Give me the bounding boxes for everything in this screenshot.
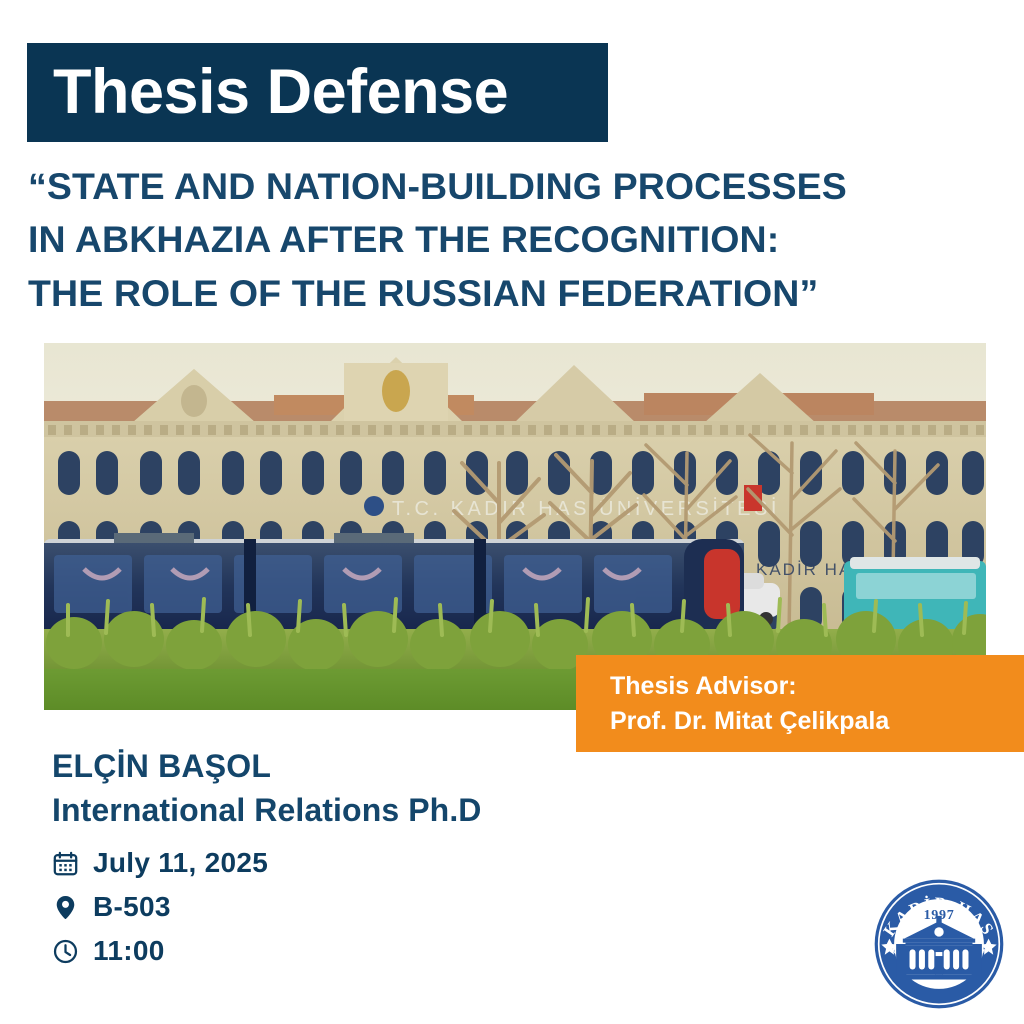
- detail-row-date: July 11, 2025: [52, 845, 268, 881]
- header-band: Thesis Defense: [27, 43, 608, 142]
- event-date: July 11, 2025: [93, 849, 268, 877]
- thesis-title-line-2: IN ABKHAZIA AFTER THE RECOGNITION:: [28, 213, 988, 266]
- location-pin-icon: [52, 894, 79, 921]
- kadir-has-university-logo: KADİR HAS ÜNİVERSİTESİ 1997: [872, 877, 1006, 1011]
- detail-row-location: B-503: [52, 889, 268, 925]
- calendar-icon: [52, 850, 79, 877]
- clock-icon: [52, 938, 79, 965]
- detail-row-time: 11:00: [52, 933, 268, 969]
- thesis-title-line-3: THE ROLE OF THE RUSSIAN FEDERATION”: [28, 267, 988, 320]
- thesis-title-line-1: “STATE AND NATION-BUILDING PROCESSES: [28, 160, 988, 213]
- advisor-name: Prof. Dr. Mitat Çelikpala: [610, 704, 1024, 739]
- presenter-name: ELÇİN BAŞOL: [52, 745, 482, 787]
- event-location: B-503: [93, 893, 171, 921]
- presenter-block: ELÇİN BAŞOL International Relations Ph.D: [52, 745, 482, 831]
- event-time: 11:00: [93, 937, 165, 965]
- poster-canvas: Thesis Defense “STATE AND NATION-BUILDIN…: [0, 0, 1024, 1024]
- presenter-department: International Relations Ph.D: [52, 789, 482, 831]
- thesis-advisor-box: Thesis Advisor: Prof. Dr. Mitat Çelikpal…: [576, 655, 1024, 752]
- advisor-label: Thesis Advisor:: [610, 669, 1024, 704]
- event-details: July 11, 2025 B-503 11:00: [52, 845, 268, 969]
- page-title: Thesis Defense: [27, 61, 508, 124]
- thesis-title: “STATE AND NATION-BUILDING PROCESSES IN …: [28, 160, 988, 320]
- university-seal-icon: KADİR HAS ÜNİVERSİTESİ 1997: [872, 877, 1006, 1011]
